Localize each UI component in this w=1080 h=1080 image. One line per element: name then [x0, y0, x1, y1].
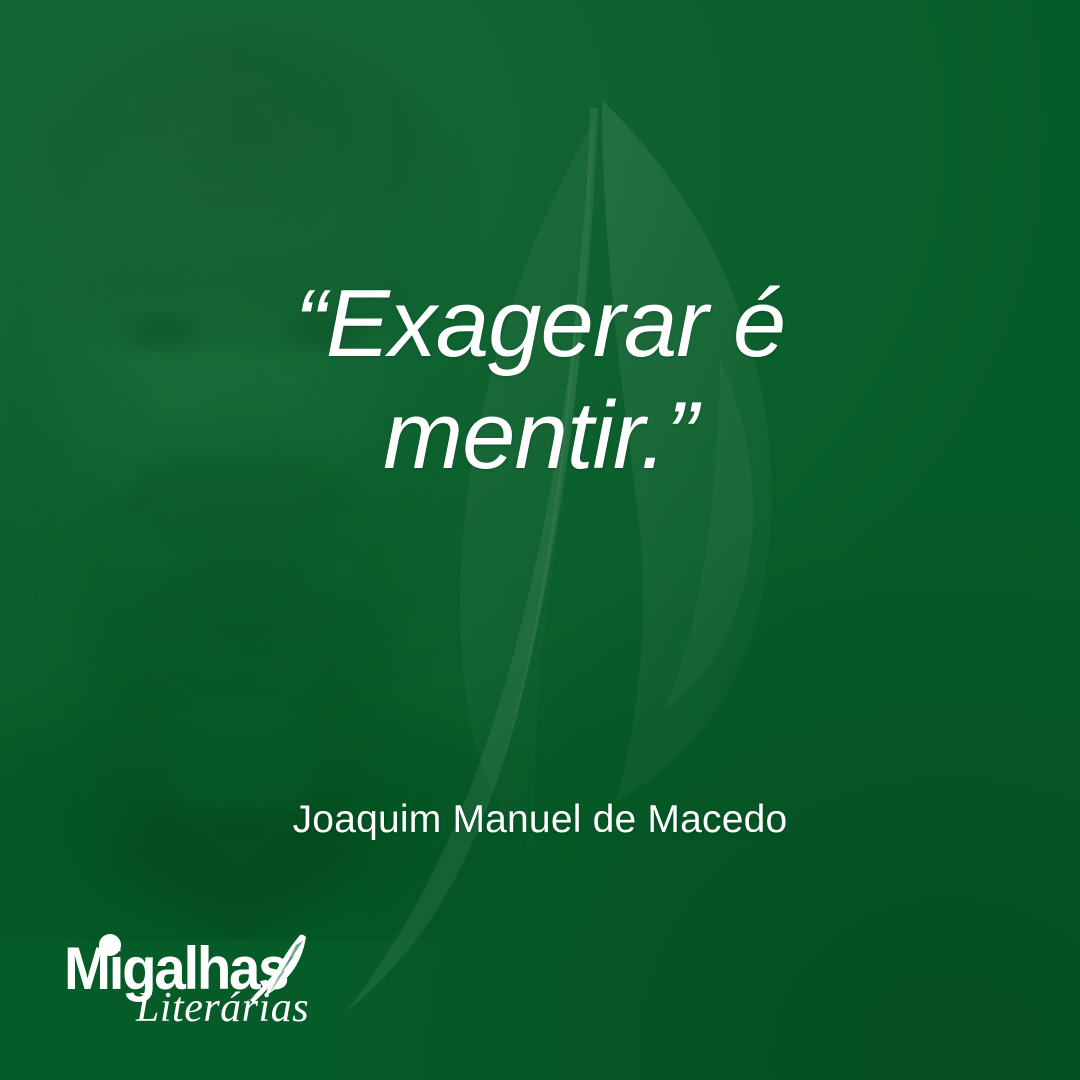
migalhas-literarias-logo[interactable]: Migalhas Literárias	[64, 933, 314, 1025]
logo-subtitle: Literárias	[136, 987, 309, 1029]
quote-text: “Exagerar é mentir.”	[0, 268, 1080, 492]
quote-card: “Exagerar é mentir.” Joaquim Manuel de M…	[0, 0, 1080, 1080]
quote-author: Joaquim Manuel de Macedo	[0, 798, 1080, 842]
background-vignette	[0, 0, 1080, 1080]
